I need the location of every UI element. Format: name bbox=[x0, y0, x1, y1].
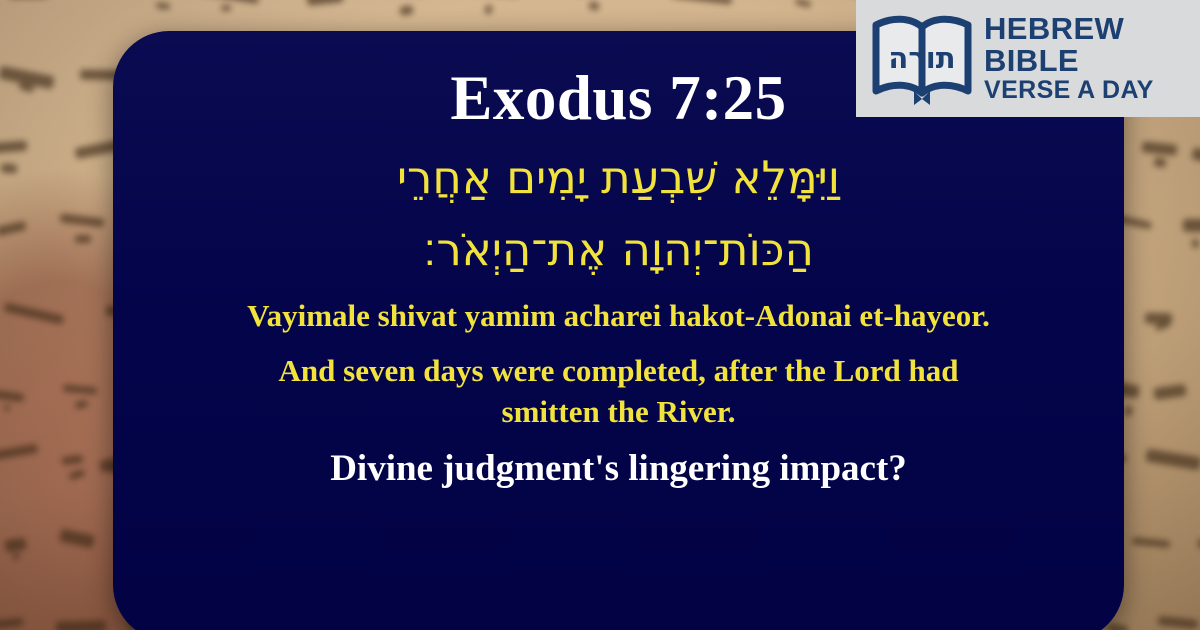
torah-hebrew-word: תורה bbox=[888, 41, 955, 75]
brand-line-bible: BIBLE bbox=[984, 45, 1154, 77]
reflection-question-text: Divine judgment's lingering impact? bbox=[170, 448, 1068, 491]
brand-line-hebrew: HEBREW bbox=[984, 13, 1154, 45]
verse-card: Exodus 7:25 וַיִּמָּלֵא שִׁבְעַת יָמִים … bbox=[113, 31, 1124, 630]
english-translation-text: And seven days were completed, after the… bbox=[235, 351, 1002, 432]
hebrew-verse-text: וַיִּמָּלֵא שִׁבְעַת יָמִים אַחֲרֵי הַכּ… bbox=[151, 142, 1086, 286]
brand-wordmark: HEBREW BIBLE VERSE A DAY bbox=[984, 13, 1154, 103]
hebrew-line-2: הַכּוֹת־יְהוָה אֶת־הַיְאֹר׃ bbox=[151, 214, 1086, 286]
open-book-icon: תורה bbox=[870, 11, 974, 107]
hebrew-line-1: וַיִּמָּלֵא שִׁבְעַת יָמִים אַחֲרֵי bbox=[151, 142, 1086, 214]
transliteration-text: Vayimale shivat yamim acharei hakot-Adon… bbox=[216, 296, 1020, 336]
brand-logo-badge[interactable]: תורה HEBREW BIBLE VERSE A DAY bbox=[856, 0, 1200, 117]
brand-line-verse-a-day: VERSE A DAY bbox=[984, 77, 1154, 104]
verse-reference-title: Exodus 7:25 bbox=[450, 65, 786, 132]
